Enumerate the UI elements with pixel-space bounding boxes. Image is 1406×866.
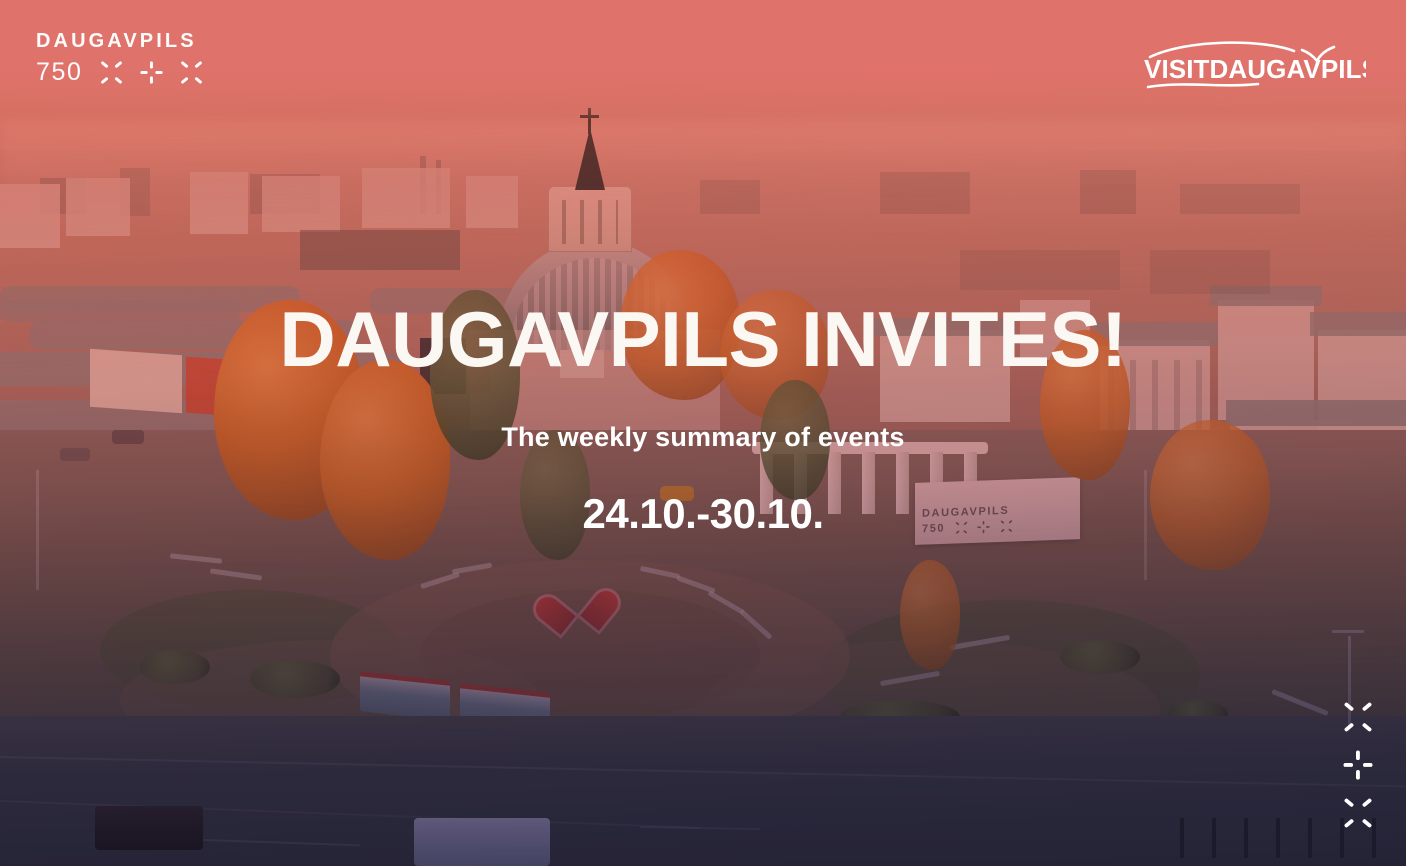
poster-content: DAUGAVPILS 750: [0, 0, 1406, 866]
wave-swoosh-icon: [1148, 84, 1258, 87]
brand-logo[interactable]: DAUGAVPILS 750: [36, 31, 203, 85]
poster: DAUGAVPILS 750: [0, 0, 1406, 866]
burst-icon: [1343, 702, 1373, 732]
burst-icon: [180, 61, 203, 84]
hero-date-range: 24.10.-30.10.: [0, 490, 1406, 538]
cross-icon: [140, 61, 163, 84]
brand-logo-name: DAUGAVPILS: [36, 31, 203, 51]
site-logo[interactable]: VISITDAUGAVPILS.LV: [1142, 41, 1366, 93]
brand-logo-year: 750: [36, 60, 83, 85]
decorative-icons: [1343, 702, 1373, 828]
site-logo-text: VISITDAUGAVPILS.LV: [1144, 54, 1366, 84]
hero-block: DAUGAVPILS INVITES! The weekly summary o…: [0, 300, 1406, 538]
burst-icon: [1343, 798, 1373, 828]
site-logo-graphic: VISITDAUGAVPILS.LV: [1142, 41, 1366, 93]
cross-icon: [1343, 750, 1373, 780]
brand-logo-row: 750: [36, 60, 203, 85]
page-title: DAUGAVPILS INVITES!: [0, 300, 1406, 378]
hero-subtitle: The weekly summary of events: [0, 422, 1406, 453]
burst-icon: [100, 61, 123, 84]
